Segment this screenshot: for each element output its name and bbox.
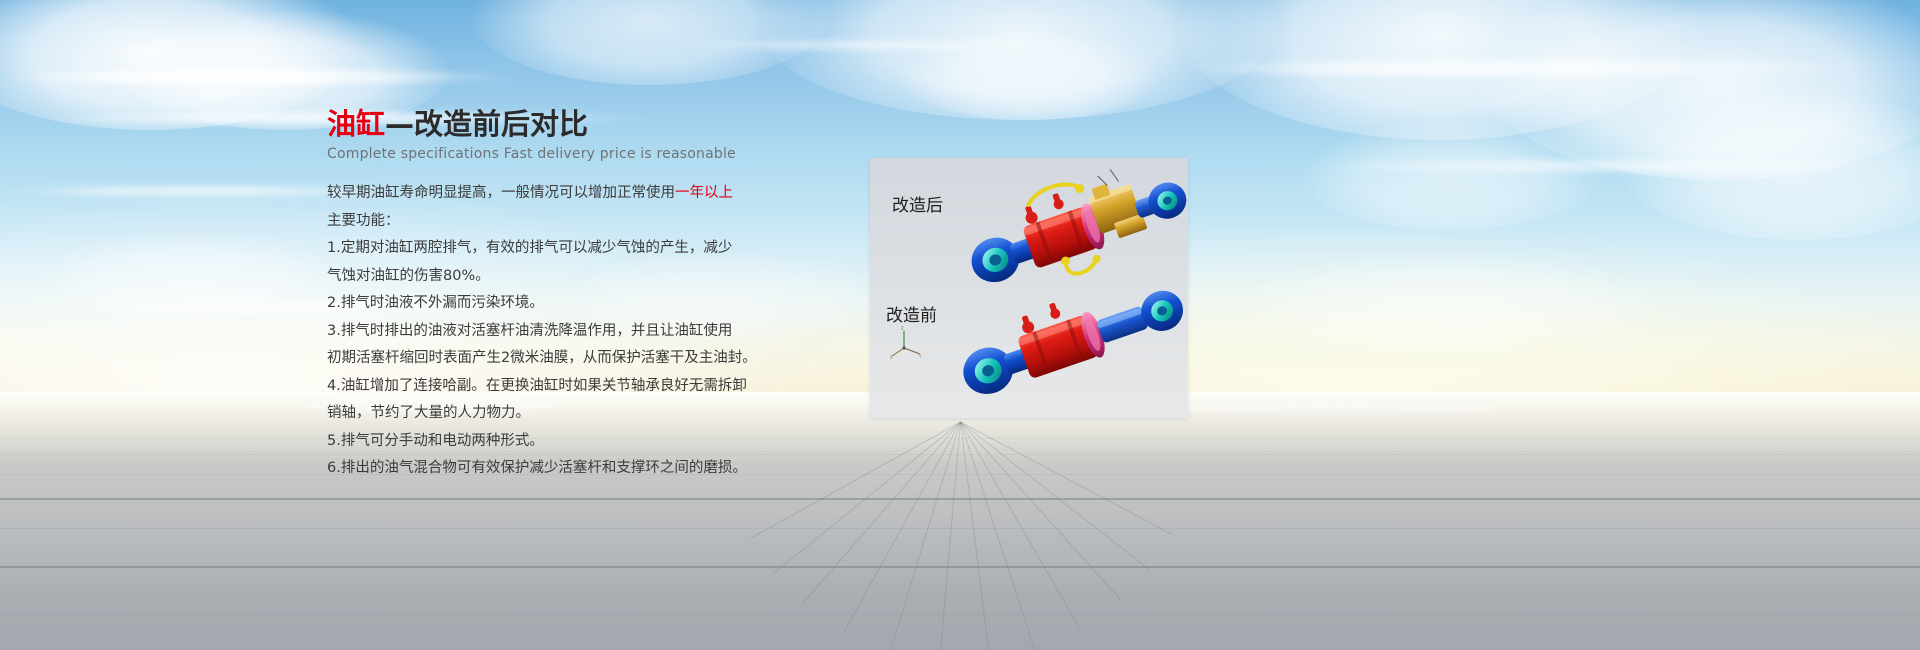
svg-text:Y: Y (918, 354, 922, 359)
label-before-modification: 改造前 (886, 301, 937, 326)
ground-highlight (1180, 402, 1500, 414)
feature-line: 3.排气时排出的油液对活塞杆油清洗降温作用，并且让油缸使用 (327, 318, 887, 346)
cylinder-before-modification (952, 270, 1188, 394)
hero-banner: 油缸—改造前后对比 Complete specifications Fast d… (0, 0, 1920, 650)
paving-joint (0, 566, 1920, 568)
svg-text:Z: Z (901, 326, 904, 331)
page-title-highlight: 油缸 (327, 107, 385, 141)
label-after-modification: 改造后 (892, 191, 943, 216)
paving-joint (0, 498, 1920, 500)
paving-joint (0, 614, 1920, 615)
feature-line: 2.排气时油液不外漏而污染环境。 (327, 290, 887, 318)
coordinate-axis-icon: Z X Y (890, 326, 924, 360)
paving-joint (0, 474, 1920, 475)
page-subtitle: Complete specifications Fast delivery pr… (327, 146, 887, 162)
feature-line-text: 较早期油缸寿命明显提高，一般情况可以增加正常使用 (327, 185, 675, 201)
feature-line: 销轴，节约了大量的人力物力。 (327, 400, 887, 428)
product-comparison-panel: 改造后 改造前 (870, 158, 1188, 418)
feature-list: 较早期油缸寿命明显提高，一般情况可以增加正常使用一年以上 主要功能： 1.定期对… (327, 180, 887, 483)
svg-text:X: X (890, 355, 893, 360)
ground-plaza (0, 392, 1920, 650)
feature-line: 气蚀对油缸的伤害80%。 (327, 263, 887, 291)
page-title-rest: —改造前后对比 (385, 107, 588, 141)
feature-line: 较早期油缸寿命明显提高，一般情况可以增加正常使用一年以上 (327, 180, 887, 208)
paving-joint (0, 438, 1920, 439)
page-title: 油缸—改造前后对比 (327, 104, 887, 144)
feature-line: 5.排气可分手动和电动两种形式。 (327, 428, 887, 456)
feature-line: 6.排出的油气混合物可有效保护减少活塞杆和支撑环之间的磨损。 (327, 455, 887, 483)
feature-line: 初期活塞杆缩回时表面产生2微米油膜，从而保护活塞干及主油封。 (327, 345, 887, 373)
paving-joint (0, 454, 1920, 455)
feature-line: 4.油缸增加了连接哈副。在更换油缸时如果关节轴承良好无需拆卸 (327, 373, 887, 401)
feature-line: 主要功能： (327, 208, 887, 236)
feature-line: 1.定期对油缸两腔排气，有效的排气可以减少气蚀的产生，减少 (327, 235, 887, 263)
hero-copy: 油缸—改造前后对比 Complete specifications Fast d… (327, 104, 887, 483)
paving-joint (0, 528, 1920, 529)
cylinder-after-modification (962, 166, 1188, 282)
feature-line-highlight: 一年以上 (675, 185, 733, 201)
